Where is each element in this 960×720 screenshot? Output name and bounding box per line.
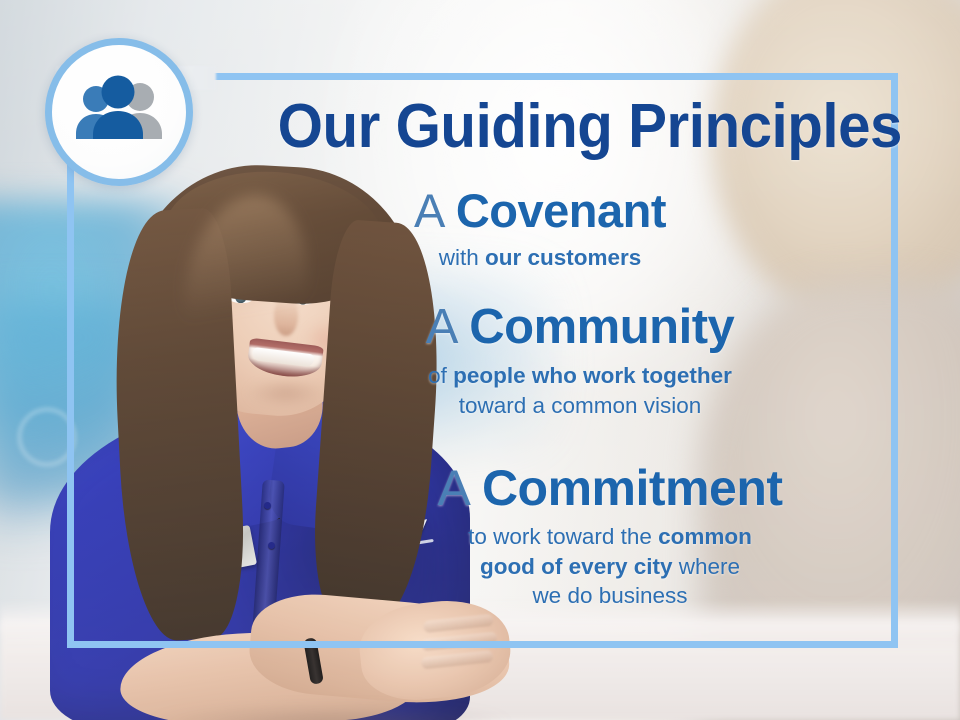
- principle-subtitle-line: good of every city where: [300, 552, 920, 582]
- shirt-button: [268, 542, 275, 549]
- principle-title: A Covenant: [240, 186, 840, 236]
- subtitle-segment: of: [428, 363, 453, 388]
- principle-covenant: A Covenant with our customers: [240, 186, 840, 273]
- principle-subtitle-line: of people who work together: [280, 361, 880, 391]
- subtitle-segment-bold: our customers: [485, 245, 641, 270]
- principle-community: A Community of people who work together …: [280, 302, 880, 420]
- principle-title: A Commitment: [300, 462, 920, 515]
- principle-title: A Community: [280, 302, 880, 354]
- principle-subtitle-line: to work toward the common: [300, 522, 920, 552]
- subtitle-segment: to work toward the: [468, 524, 658, 549]
- principle-keyword: Covenant: [456, 184, 666, 237]
- principle-commitment: A Commitment to work toward the common g…: [300, 462, 920, 611]
- shirt-button: [264, 502, 271, 509]
- subtitle-segment-bold: people who work together: [453, 363, 732, 388]
- promotional-graphic: FLOW AUTOMOTIVE FLOW: [0, 0, 960, 720]
- principle-subtitle: to work toward the common good of every …: [300, 522, 920, 611]
- principle-subtitle: with our customers: [240, 243, 840, 273]
- principle-subtitle-line: toward a common vision: [280, 391, 880, 421]
- principle-subtitle-line: with our customers: [240, 243, 840, 273]
- principle-keyword: Commitment: [482, 460, 783, 516]
- principle-subtitle-line: we do business: [300, 581, 920, 611]
- subtitle-segment: we do business: [532, 583, 687, 608]
- principle-subtitle: of people who work together toward a com…: [280, 361, 880, 420]
- subtitle-segment: where: [673, 554, 741, 579]
- subtitle-segment: toward a common vision: [459, 393, 702, 418]
- principle-lead: A: [426, 300, 456, 354]
- principle-lead: A: [414, 184, 443, 237]
- subtitle-segment-bold: common: [658, 524, 752, 549]
- principle-keyword: Community: [469, 300, 734, 354]
- principle-lead: A: [437, 460, 468, 516]
- subtitle-segment-bold: good of every city: [480, 554, 673, 579]
- page-title: Our Guiding Principles: [54, 96, 902, 158]
- subtitle-segment: with: [439, 245, 485, 270]
